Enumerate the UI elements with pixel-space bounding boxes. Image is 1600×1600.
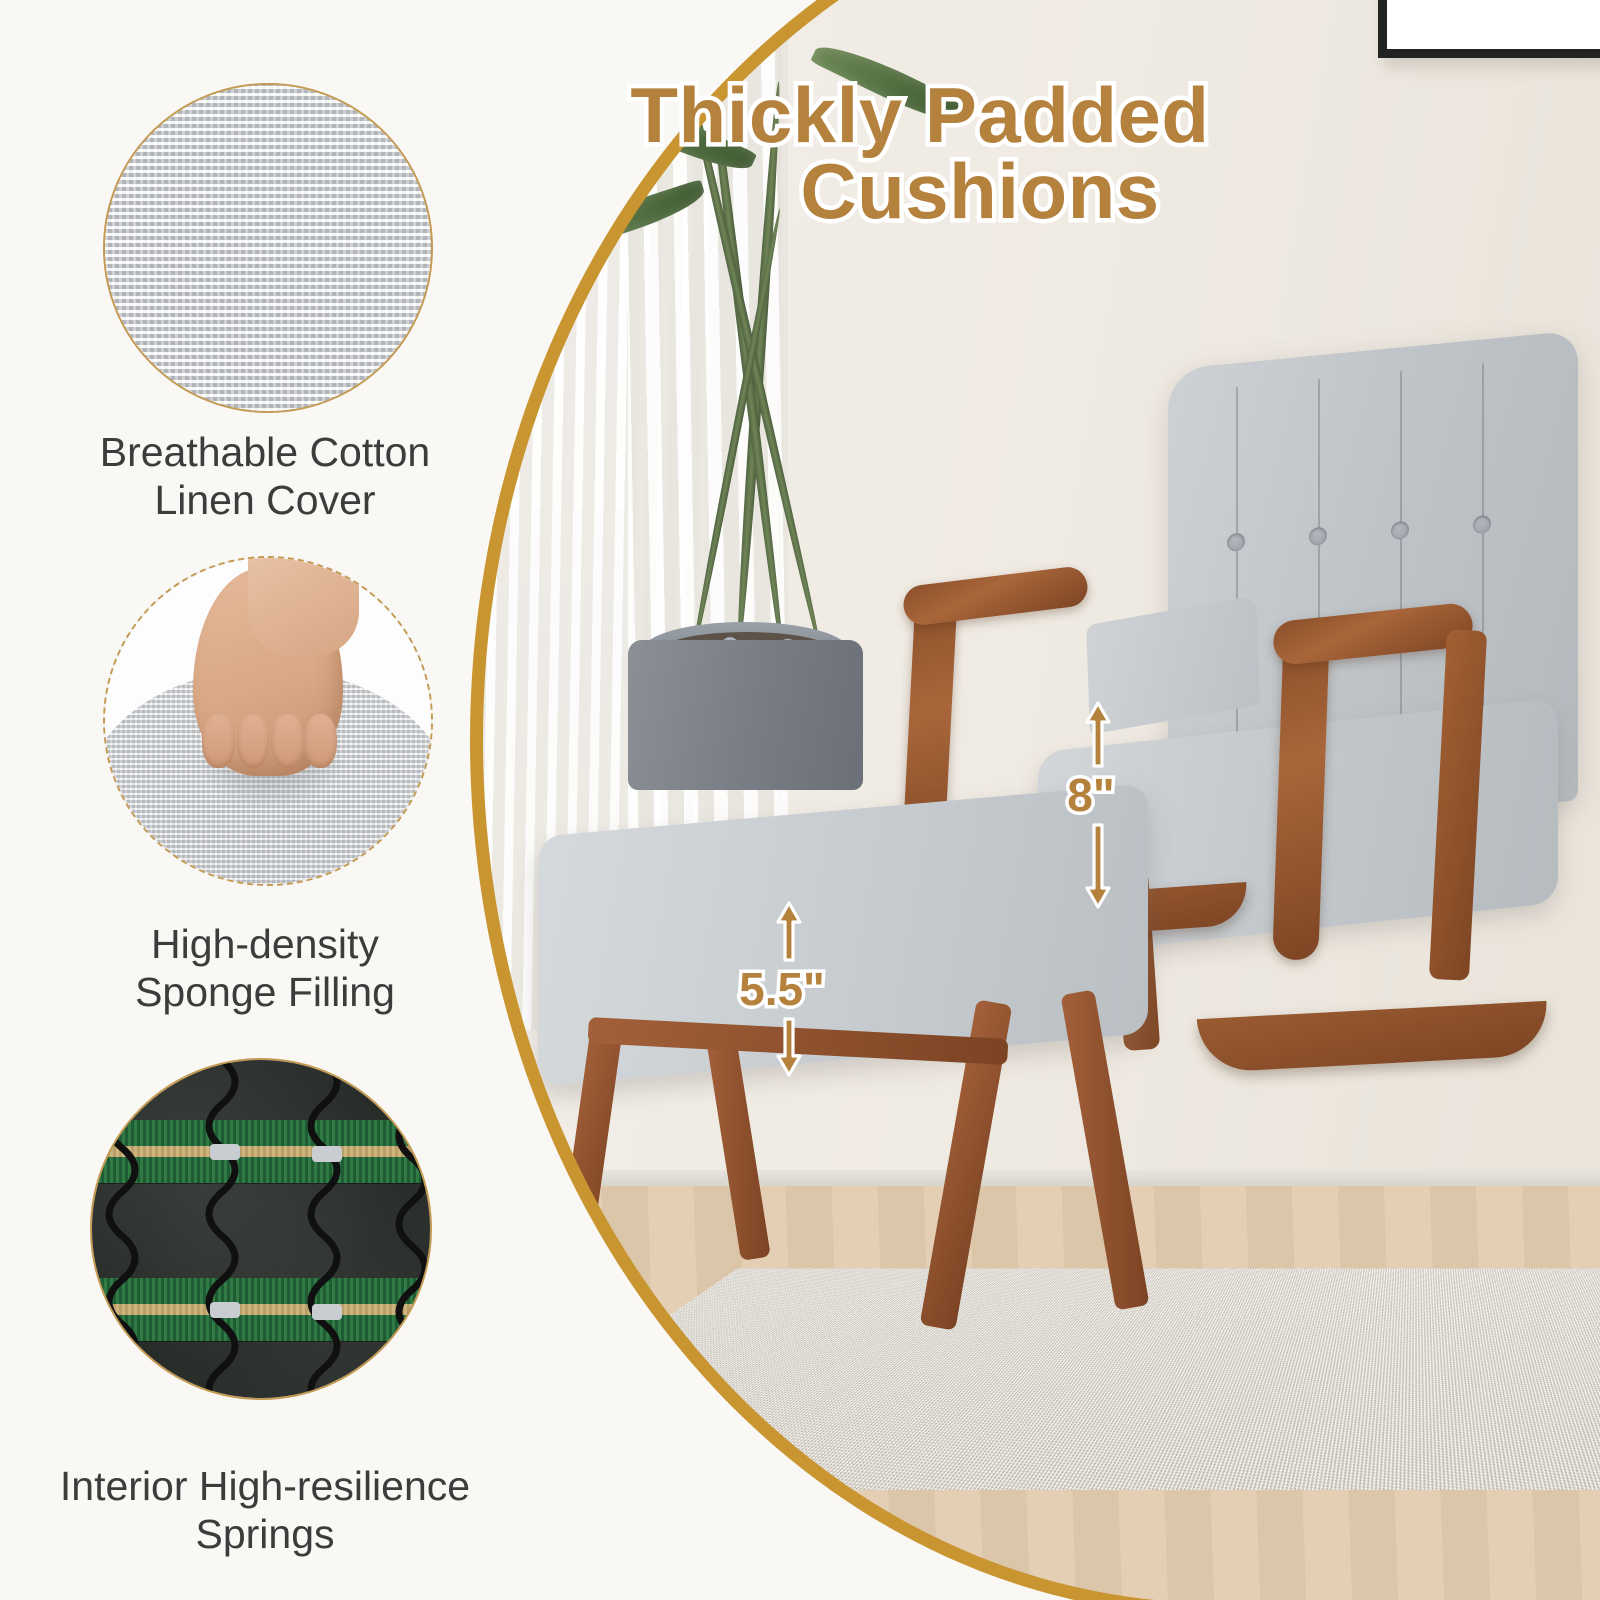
title-line-1: Thickly Padded bbox=[630, 71, 1209, 159]
feature-image-sponge-filling bbox=[103, 556, 433, 886]
caption-line-2: Sponge Filling bbox=[135, 969, 395, 1015]
feature-caption-cotton-linen-cover: Breathable Cotton Linen Cover bbox=[30, 428, 500, 525]
feature-caption-resilience-springs: Interior High-resilience Springs bbox=[10, 1462, 520, 1559]
cushion-press-demo bbox=[105, 558, 431, 884]
feature-image-resilience-springs bbox=[90, 1058, 432, 1400]
title-line-2: Cushions bbox=[600, 154, 1360, 230]
dimension-callout-seat: 8" bbox=[1036, 700, 1146, 910]
page-title: Thickly Padded Cushions bbox=[480, 78, 1360, 229]
feature-image-cotton-linen-cover bbox=[103, 83, 433, 413]
dimension-callout-ottoman: 5.5" bbox=[712, 900, 852, 1078]
black-framed-wall-art bbox=[1378, 0, 1600, 58]
feature-caption-sponge-filling: High-density Sponge Filling bbox=[30, 920, 500, 1017]
caption-line-1: High-density bbox=[151, 921, 379, 967]
infographic-canvas: Thickly Padded Cushions 8" 5.5" bbox=[0, 0, 1600, 1600]
arrow-up-icon bbox=[776, 900, 788, 962]
concrete-planter bbox=[628, 640, 863, 790]
serpentine-spring-wire bbox=[92, 1060, 430, 1398]
dimension-value: 8" bbox=[1067, 772, 1114, 818]
baseboard bbox=[478, 1170, 1600, 1186]
wrist bbox=[248, 556, 359, 656]
tufting-button bbox=[1227, 532, 1245, 552]
woven-linen-texture bbox=[105, 85, 431, 411]
arrow-down-icon bbox=[1085, 822, 1097, 910]
caption-line-2: Linen Cover bbox=[154, 477, 375, 523]
line-art-drawing bbox=[1440, 0, 1600, 62]
tufting-button bbox=[1473, 515, 1491, 535]
arrow-down-icon bbox=[776, 1016, 788, 1078]
arrow-up-icon bbox=[1085, 700, 1097, 768]
caption-line-1: Interior High-resilience bbox=[60, 1463, 470, 1509]
caption-line-2: Springs bbox=[195, 1511, 334, 1557]
caption-line-1: Breathable Cotton bbox=[100, 429, 431, 475]
tufting-button bbox=[1391, 521, 1409, 541]
tufting-button bbox=[1309, 526, 1327, 546]
serpentine-springs-photo bbox=[92, 1060, 430, 1398]
dimension-value: 5.5" bbox=[739, 966, 825, 1012]
